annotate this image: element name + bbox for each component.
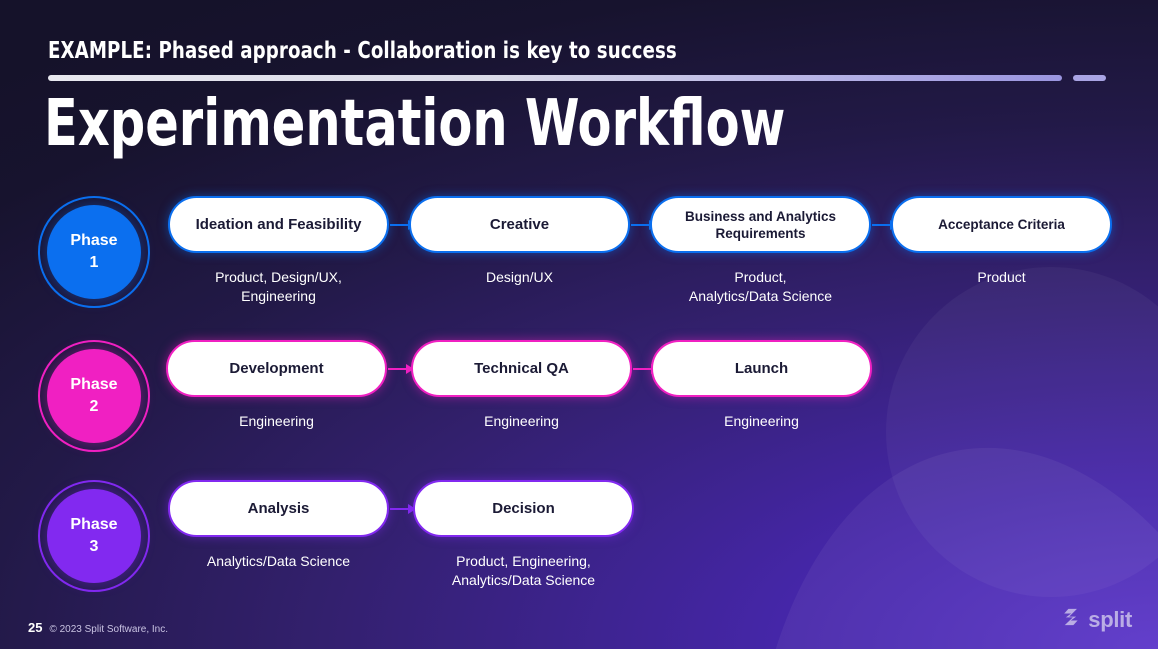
phase-badge-label: Phase bbox=[70, 514, 117, 536]
phase-badge-core: Phase1 bbox=[47, 205, 141, 299]
workflow-node-caption: Product bbox=[977, 268, 1025, 287]
workflow-node-pill[interactable]: Decision bbox=[413, 480, 634, 537]
arrow-shaft bbox=[390, 224, 408, 226]
workflow-node[interactable]: CreativeDesign/UX bbox=[409, 196, 630, 287]
workflow-node[interactable]: Technical QAEngineering bbox=[411, 340, 632, 431]
workflow-node[interactable]: DecisionProduct, Engineering, Analytics/… bbox=[413, 480, 634, 590]
arrow-shaft bbox=[633, 368, 651, 370]
phase-row-1: Phase1Ideation and FeasibilityProduct, D… bbox=[0, 196, 1158, 316]
workflow-node-title: Ideation and Feasibility bbox=[196, 215, 362, 234]
phase-badge-label: Phase bbox=[70, 230, 117, 252]
workflow-node-pill[interactable]: Ideation and Feasibility bbox=[168, 196, 389, 253]
workflow-node-title: Technical QA bbox=[474, 359, 569, 378]
workflow-node-pill[interactable]: Launch bbox=[651, 340, 872, 397]
phase-badge-1[interactable]: Phase1 bbox=[38, 196, 150, 308]
slide-canvas: EXAMPLE: Phased approach - Collaboration… bbox=[0, 0, 1158, 649]
phase-badge-core: Phase2 bbox=[47, 349, 141, 443]
workflow-node-caption: Product, Design/UX, Engineering bbox=[215, 268, 342, 306]
split-logo: split bbox=[1060, 606, 1132, 633]
arrow-shaft bbox=[390, 508, 408, 510]
workflow-node-pill[interactable]: Business and Analytics Requirements bbox=[650, 196, 871, 253]
divider-main-bar bbox=[48, 75, 1062, 81]
workflow-node-title: Acceptance Criteria bbox=[938, 216, 1065, 233]
eyebrow-heading: EXAMPLE: Phased approach - Collaboration… bbox=[48, 38, 677, 64]
divider-tip-bar bbox=[1073, 75, 1106, 81]
workflow-node-caption: Engineering bbox=[239, 412, 314, 431]
workflow-node-caption: Analytics/Data Science bbox=[207, 552, 350, 571]
phase-badge-number: 3 bbox=[90, 536, 99, 558]
page-number: 25 bbox=[28, 620, 42, 635]
workflow-node-caption: Product, Analytics/Data Science bbox=[689, 268, 832, 306]
phase-row-3: Phase3AnalysisAnalytics/Data ScienceDeci… bbox=[0, 480, 1158, 600]
workflow-node-caption: Engineering bbox=[484, 412, 559, 431]
phase-badge-core: Phase3 bbox=[47, 489, 141, 583]
workflow-node-title: Decision bbox=[492, 499, 555, 518]
phase-badge-number: 2 bbox=[90, 396, 99, 418]
workflow-node-title: Creative bbox=[490, 215, 549, 234]
split-logo-mark bbox=[1060, 606, 1082, 633]
workflow-node-pill[interactable]: Development bbox=[166, 340, 387, 397]
workflow-node-pill[interactable]: Technical QA bbox=[411, 340, 632, 397]
workflow-node[interactable]: DevelopmentEngineering bbox=[166, 340, 387, 431]
workflow-node[interactable]: Acceptance CriteriaProduct bbox=[891, 196, 1112, 287]
divider-gap bbox=[1062, 75, 1073, 81]
workflow-node-title: Business and Analytics Requirements bbox=[666, 208, 855, 242]
split-logo-wordmark: split bbox=[1088, 607, 1132, 633]
workflow-node-title: Analysis bbox=[248, 499, 310, 518]
workflow-node-pill[interactable]: Creative bbox=[409, 196, 630, 253]
workflow-node-caption: Product, Engineering, Analytics/Data Sci… bbox=[452, 552, 595, 590]
workflow-node[interactable]: Ideation and FeasibilityProduct, Design/… bbox=[168, 196, 389, 306]
workflow-node[interactable]: LaunchEngineering bbox=[651, 340, 872, 431]
phase-row-2: Phase2DevelopmentEngineeringTechnical QA… bbox=[0, 340, 1158, 460]
workflow-node[interactable]: AnalysisAnalytics/Data Science bbox=[168, 480, 389, 571]
phase-badge-2[interactable]: Phase2 bbox=[38, 340, 150, 452]
arrow-shaft bbox=[631, 224, 649, 226]
workflow-node-pill[interactable]: Acceptance Criteria bbox=[891, 196, 1112, 253]
footer: 25 © 2023 Split Software, Inc. bbox=[28, 620, 168, 635]
workflow-node-pill[interactable]: Analysis bbox=[168, 480, 389, 537]
arrow-shaft bbox=[872, 224, 890, 226]
phase-badge-label: Phase bbox=[70, 374, 117, 396]
copyright-text: © 2023 Split Software, Inc. bbox=[49, 624, 168, 635]
workflow-node-title: Launch bbox=[735, 359, 788, 378]
workflow-node-title: Development bbox=[229, 359, 323, 378]
workflow-node-caption: Engineering bbox=[724, 412, 799, 431]
header-divider bbox=[48, 75, 1106, 81]
workflow-node-caption: Design/UX bbox=[486, 268, 553, 287]
phase-badge-3[interactable]: Phase3 bbox=[38, 480, 150, 592]
page-title: Experimentation Workflow bbox=[44, 88, 785, 160]
arrow-shaft bbox=[388, 368, 406, 370]
workflow-node[interactable]: Business and Analytics RequirementsProdu… bbox=[650, 196, 871, 306]
phase-badge-number: 1 bbox=[90, 252, 99, 274]
